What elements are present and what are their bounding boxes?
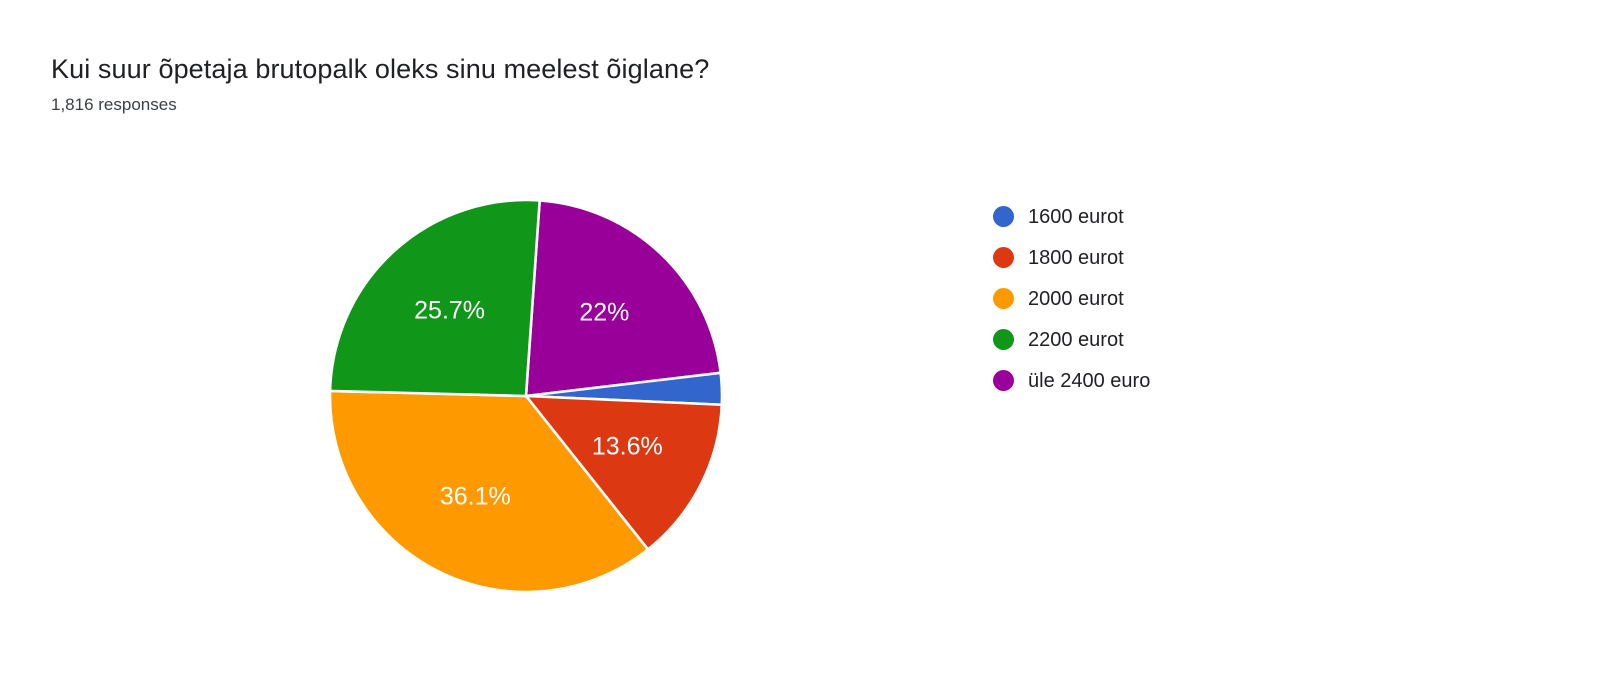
pie-slice-label: 13.6% bbox=[592, 432, 663, 460]
legend-item[interactable]: 2200 eurot bbox=[993, 319, 1423, 360]
legend-item[interactable]: 2000 eurot bbox=[993, 278, 1423, 319]
pie-slice-group bbox=[330, 200, 722, 592]
legend-item-label: üle 2400 euro bbox=[1028, 369, 1150, 393]
circle-swatch-icon bbox=[993, 206, 1014, 227]
circle-swatch-icon bbox=[993, 370, 1014, 391]
circle-swatch-icon bbox=[993, 247, 1014, 268]
legend-item[interactable]: üle 2400 euro bbox=[993, 360, 1423, 401]
circle-swatch-icon bbox=[993, 288, 1014, 309]
legend-item-label: 2000 eurot bbox=[1028, 287, 1124, 311]
pie-slice-label: 25.7% bbox=[414, 297, 485, 325]
legend-item-label: 1600 eurot bbox=[1028, 205, 1124, 229]
chart-page: Kui suur õpetaja brutopalk oleks sinu me… bbox=[0, 0, 1600, 673]
legend-item[interactable]: 1800 eurot bbox=[993, 237, 1423, 278]
pie-slice-label: 22% bbox=[579, 298, 629, 326]
pie-slice-label: 36.1% bbox=[440, 482, 511, 510]
chart-legend: 1600 eurot1800 eurot2000 eurot2200 eurot… bbox=[993, 196, 1423, 401]
legend-item-label: 1800 eurot bbox=[1028, 246, 1124, 270]
legend-item-label: 2200 eurot bbox=[1028, 328, 1124, 352]
circle-swatch-icon bbox=[993, 329, 1014, 350]
legend-item[interactable]: 1600 eurot bbox=[993, 196, 1423, 237]
